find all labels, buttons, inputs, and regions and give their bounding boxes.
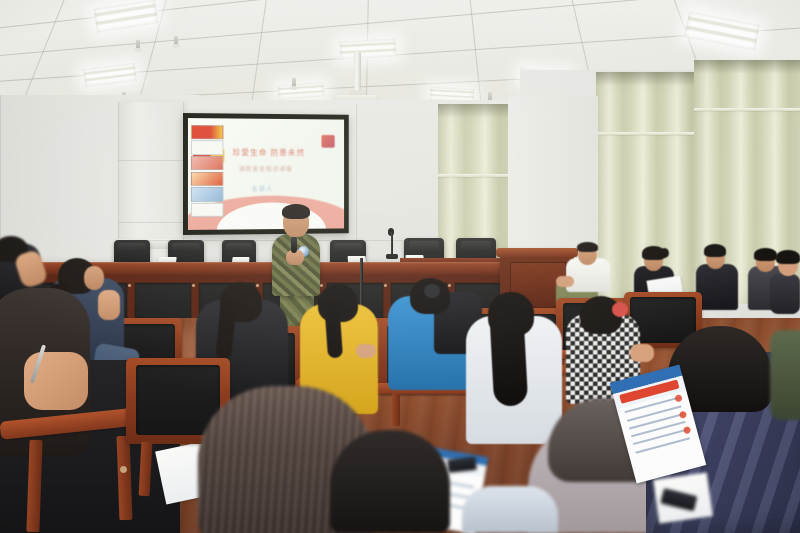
table-stud [256, 284, 259, 287]
flyer-accent-dot [683, 426, 692, 435]
attendee-far-right-2 [770, 274, 800, 314]
slide-thumbnail [191, 187, 223, 201]
slide-thumbnail [191, 140, 223, 154]
attendee-long-hair [490, 319, 528, 407]
slide-subtitle: 消防安全知识讲座 [239, 164, 293, 173]
gooseneck-microphone-base [386, 254, 398, 259]
lectern-top [496, 248, 578, 257]
curtain-shadow [596, 72, 696, 86]
sprinkler-head-icon [174, 36, 178, 45]
slide-thumbnail [191, 156, 223, 170]
wall-seam [118, 160, 184, 161]
curtain-tie-band [694, 108, 800, 111]
sprinkler-head-icon [292, 78, 296, 87]
curtain-tie-band [596, 132, 696, 135]
slide-thumbnail [191, 203, 223, 217]
table-stud [192, 284, 195, 287]
table-stud [448, 284, 451, 287]
curtain-tie-band [438, 174, 508, 177]
slide-author: 主讲人 [251, 183, 273, 193]
attendee-leather-jacket-torso [696, 264, 738, 310]
slide-title: 珍爱生命 防患未然 [233, 147, 305, 158]
table-stud [320, 284, 323, 287]
attendee-hand [356, 344, 376, 358]
attendee-hair [704, 244, 726, 257]
flyer-accent-dot [679, 410, 688, 419]
attendee-hair [754, 248, 777, 261]
attendee-right-edge [770, 330, 800, 420]
table-stud [128, 284, 131, 287]
flyer-text-line [633, 429, 688, 445]
wall-seam [118, 222, 184, 223]
attendee-hair [776, 250, 800, 264]
curtain-shadow [694, 60, 800, 74]
chair-leg [392, 394, 400, 426]
slide-logo-graphic [321, 135, 335, 148]
attendee-patterned-shirt [462, 486, 558, 533]
attendee-hand [556, 276, 574, 287]
attendee-head [84, 266, 104, 290]
slide-thumbnail [191, 172, 223, 186]
chair-leg [139, 442, 153, 497]
projection-screen-surface: 珍爱生命 防患未然 消防安全知识讲座 主讲人 [188, 118, 344, 230]
hair-clip-icon [612, 302, 628, 317]
gooseneck-microphone-stem [391, 232, 393, 256]
chair-leg [26, 440, 42, 532]
hair-tie-icon [424, 284, 440, 298]
photograph-scene: 珍爱生命 防患未然 消防安全知识讲座 主讲人 [0, 0, 800, 533]
attendee-hair-bun [660, 248, 669, 258]
attendee-foreground-center [330, 430, 450, 533]
flyer-accent-dot [675, 394, 684, 403]
handheld-microphone [291, 236, 297, 253]
speaker-hair [282, 204, 310, 219]
wall-seam [356, 104, 357, 240]
attendee-hair [577, 242, 598, 252]
ceiling-light-fixture [340, 39, 397, 60]
scene-description: A man in camouflage military uniform spe… [0, 528, 71, 533]
table-stud [384, 284, 387, 287]
sprinkler-head-icon [136, 40, 140, 49]
projection-screen: 珍爱生命 防患未然 消防安全知识讲座 主讲人 [183, 113, 349, 235]
attendee-hand [630, 344, 654, 362]
slide-thumbnail [191, 125, 223, 139]
attendee-clapping-hands [98, 290, 120, 320]
curtain-shadow [438, 104, 508, 118]
